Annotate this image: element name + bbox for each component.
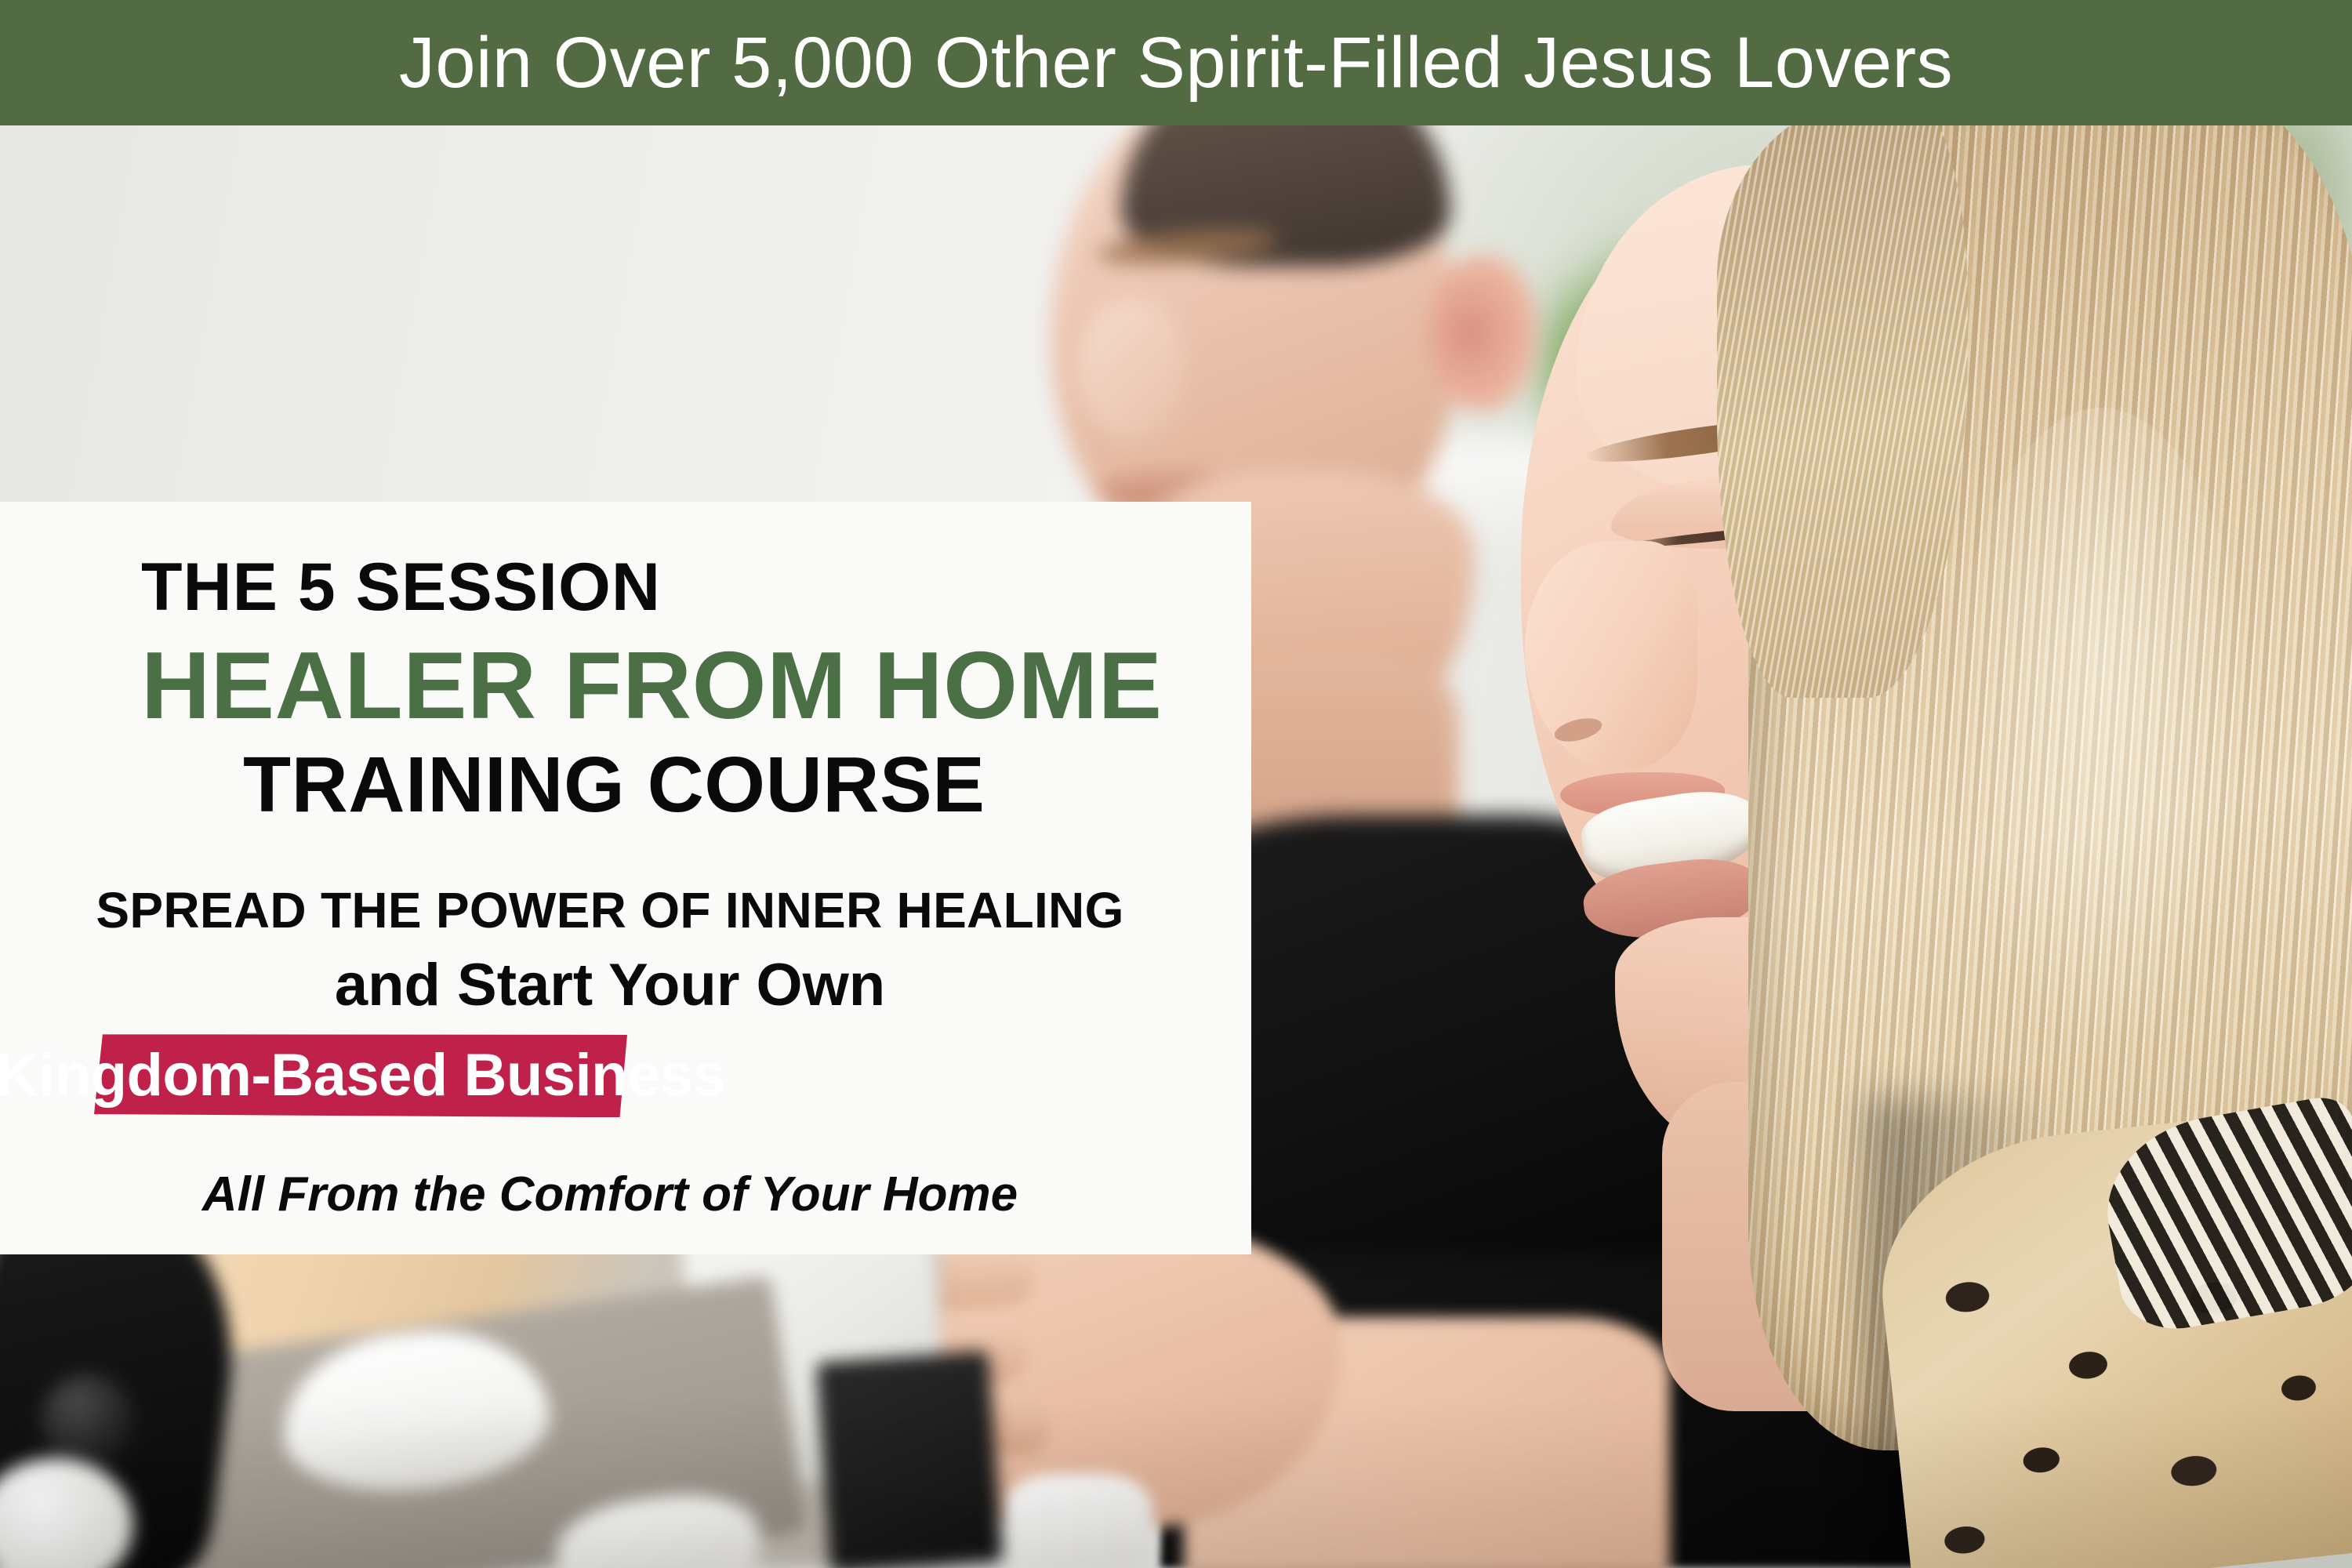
woman-hair-highlight bbox=[1952, 408, 2250, 1051]
top-announcement-bar: Join Over 5,000 Other Spirit-Filled Jesu… bbox=[0, 0, 2352, 125]
wristwatch bbox=[1004, 1474, 1152, 1568]
woman-hair-front bbox=[1717, 102, 1968, 698]
promise-line-2: and Start Your Own bbox=[55, 956, 1196, 1015]
course-kicker: THE 5 SESSION bbox=[141, 554, 1196, 621]
highlight-callout: Kingdom-Based Business bbox=[94, 1034, 627, 1117]
man-nose bbox=[1078, 298, 1184, 439]
highlight-callout-text: Kingdom-Based Business bbox=[94, 1034, 627, 1117]
laptop-screen-dark bbox=[816, 1351, 1003, 1568]
promise-line-1: SPREAD THE POWER OF INNER HEALING bbox=[55, 885, 1196, 935]
desk-foreground bbox=[0, 1223, 941, 1568]
promo-banner: Join Over 5,000 Other Spirit-Filled Jesu… bbox=[0, 0, 2352, 1568]
course-title-suffix: TRAINING COURSE bbox=[243, 746, 1196, 824]
course-title-highlight: HEALER FROM HOME bbox=[141, 635, 1196, 736]
top-announcement-text: Join Over 5,000 Other Spirit-Filled Jesu… bbox=[399, 27, 1953, 99]
offer-card: THE 5 SESSION HEALER FROM HOME TRAINING … bbox=[0, 502, 1251, 1254]
device-knob bbox=[41, 1374, 135, 1468]
closing-tagline: All From the Comfort of Your Home bbox=[55, 1171, 1196, 1219]
